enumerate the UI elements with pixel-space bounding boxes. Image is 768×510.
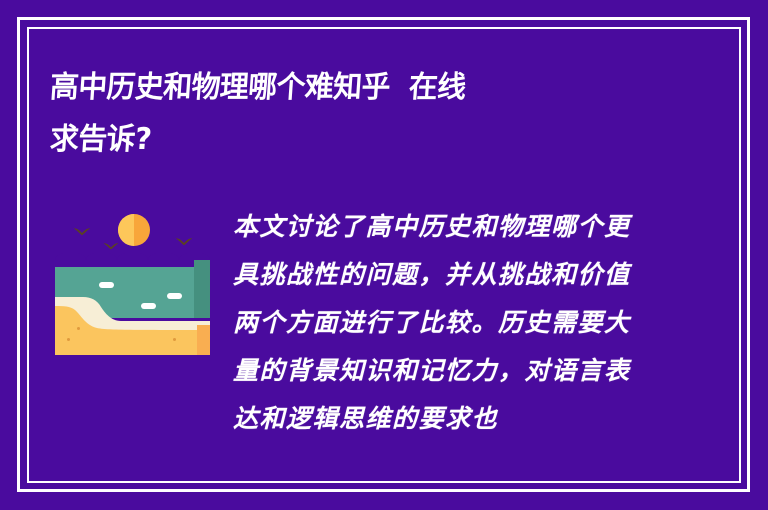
bird-icon: [175, 237, 193, 246]
foam-dash: [99, 282, 114, 288]
bird-icon: [73, 227, 91, 236]
poster-canvas: 高中历史和物理哪个难知乎 在线 求告诉?: [0, 0, 768, 510]
bird-icon: [103, 242, 119, 250]
beach-illustration: [55, 205, 210, 355]
sand-speck: [67, 338, 70, 341]
sun-icon: [118, 214, 150, 246]
title-line-2: 求告诉?: [48, 114, 666, 166]
article-body-text: 本文讨论了高中历史和物理哪个更具挑战性的问题，并从挑战和价值两个方面进行了比较。…: [233, 203, 648, 443]
sand-speck: [173, 338, 176, 341]
title-line-1: 高中历史和物理哪个难知乎 在线: [48, 62, 666, 114]
beach-shore: [55, 297, 210, 355]
sand-shadow-strip: [197, 325, 210, 355]
content-row: 本文讨论了高中历史和物理哪个更具挑战性的问题，并从挑战和价值两个方面进行了比较。…: [55, 205, 728, 443]
sand-speck: [77, 327, 80, 330]
page-title: 高中历史和物理哪个难知乎 在线 求告诉?: [50, 62, 690, 166]
